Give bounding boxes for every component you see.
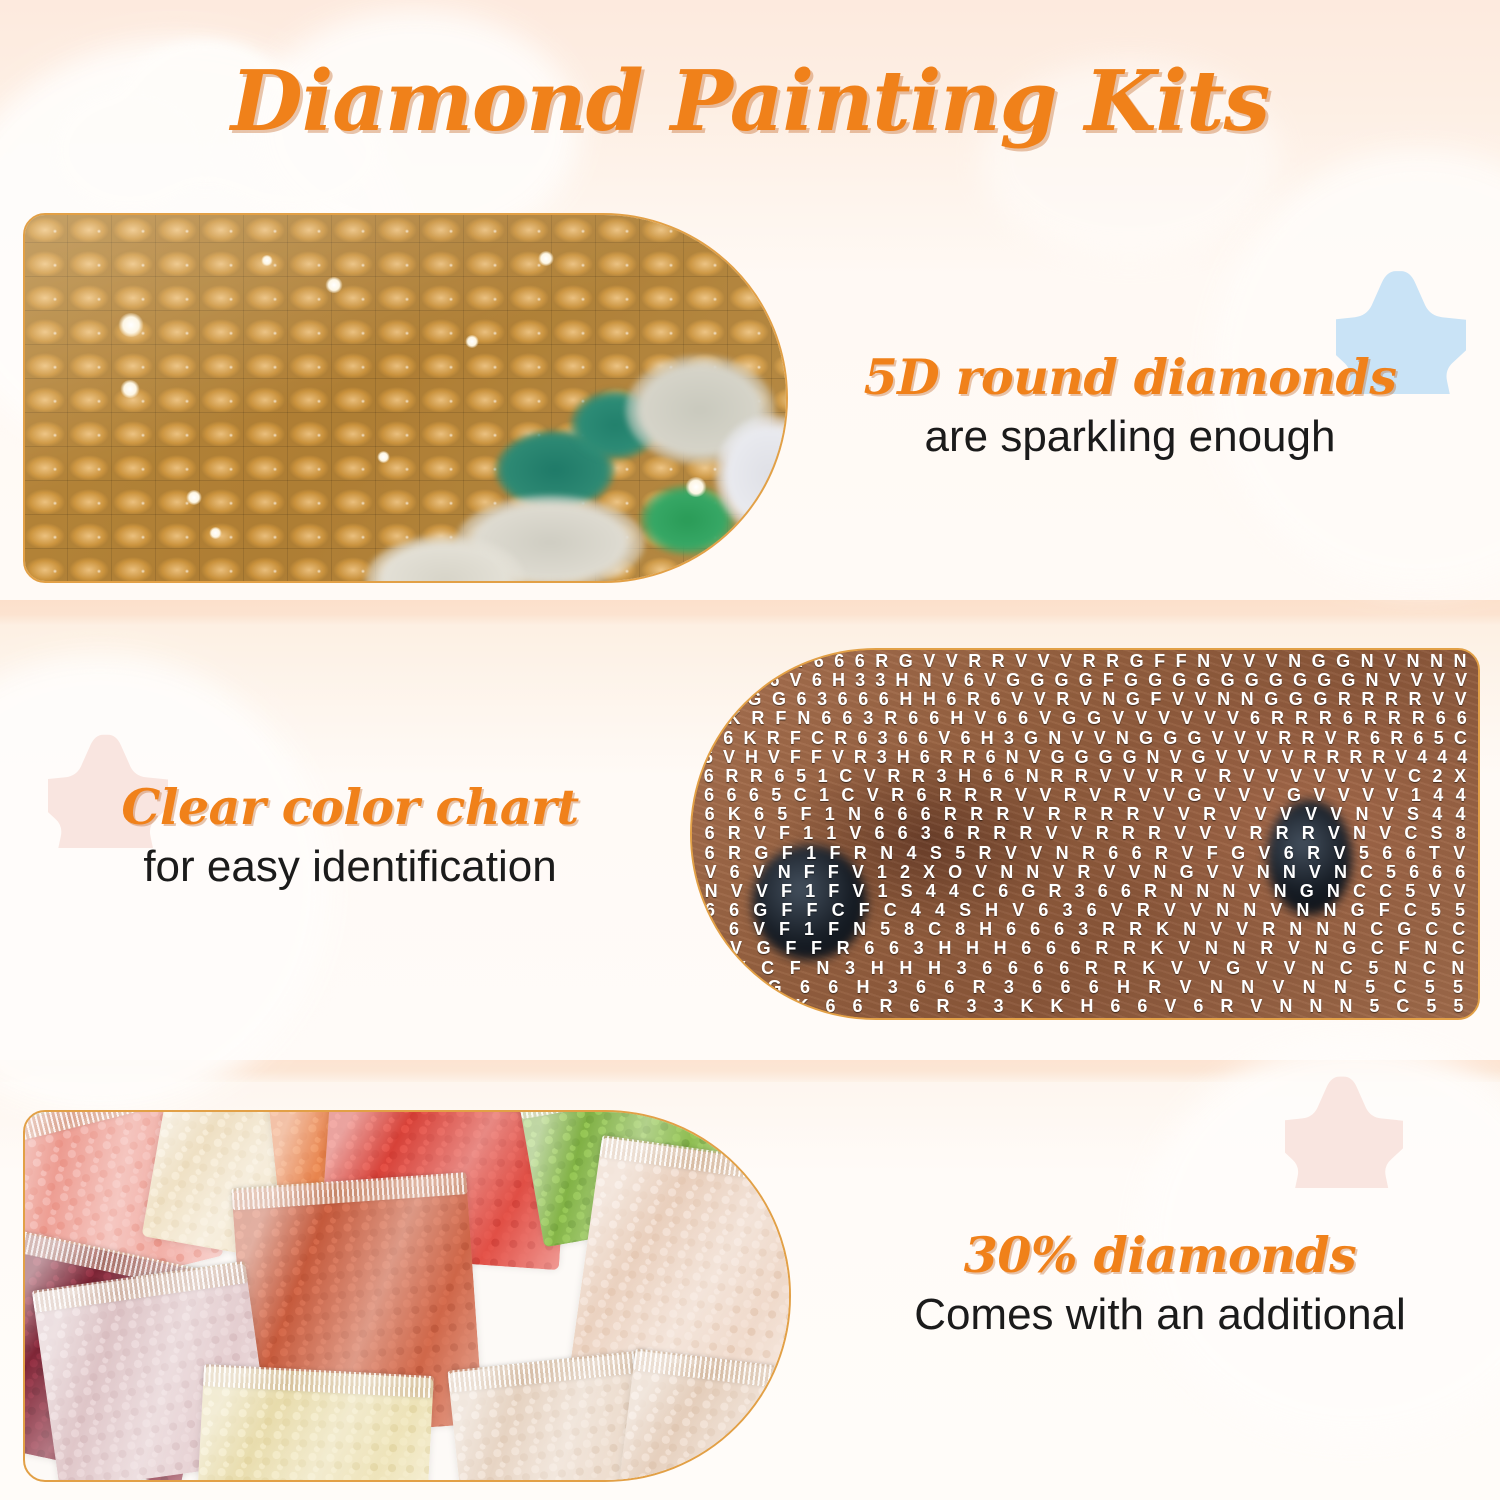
symbol-cell: F xyxy=(822,882,846,901)
symbol-cell: G xyxy=(759,978,791,997)
symbol-cell: C xyxy=(966,882,992,901)
symbol-cell: R xyxy=(744,767,769,786)
symbol-cell: R xyxy=(972,844,998,863)
symbol-cell: R xyxy=(1358,709,1382,728)
symbol-cell: 6 xyxy=(1451,709,1472,728)
symbol-cell: F xyxy=(794,805,818,824)
symbol-row: HKRFN663R66HV66VGGVVVVVV6RRR6RRR66 xyxy=(698,709,1472,728)
symbol-cell: 6 xyxy=(913,729,933,748)
symbol-cell: V xyxy=(1222,709,1245,728)
symbol-cell: V xyxy=(1046,863,1071,882)
symbol-cell: H xyxy=(931,939,959,958)
symbol-cell: F xyxy=(1372,901,1397,920)
symbol-cell: V xyxy=(1193,824,1218,843)
symbol-cell: V xyxy=(1010,652,1033,671)
symbol-cell: V xyxy=(1229,920,1255,939)
symbol-cell: R xyxy=(933,786,958,805)
symbol-cell: S xyxy=(923,844,948,863)
symbol-cell: 6 xyxy=(829,652,850,671)
symbol-cell: F xyxy=(785,748,806,767)
symbol-row: 6VHVFFVR3H6RR6NVGGGGNVGVVVVRRRRV444 xyxy=(698,748,1472,767)
symbol-cell: V xyxy=(1094,767,1118,786)
symbol-cell: 6 xyxy=(852,729,872,748)
symbol-cell: N xyxy=(1111,729,1134,748)
symbol-cell: 6 xyxy=(981,748,1001,767)
symbol-cell: N xyxy=(1331,997,1361,1016)
symbol-cell: V xyxy=(1422,882,1447,901)
symbol-cell: 8 xyxy=(948,920,972,939)
symbol-cell: N xyxy=(1444,959,1473,978)
symbol-cell: R xyxy=(879,709,903,728)
symbol-cell: V xyxy=(1034,709,1057,728)
sparkle-highlight xyxy=(209,527,222,539)
symbol-cell: V xyxy=(1097,863,1122,882)
symbol-cell: C xyxy=(825,901,852,920)
symbol-cell: F xyxy=(729,978,758,997)
symbol-cell: 6 xyxy=(837,709,858,728)
symbol-cell: 6 xyxy=(817,997,844,1016)
symbol-cell: V xyxy=(1066,729,1088,748)
sparkle-highlight xyxy=(261,255,273,266)
symbol-cell: V xyxy=(742,652,765,671)
symbol-cell: F xyxy=(774,882,798,901)
symbol-cell: V xyxy=(1170,978,1200,997)
symbol-cell: V xyxy=(1130,709,1153,728)
feature-image-round-diamonds xyxy=(23,213,788,583)
symbol-cell: 6 xyxy=(1000,959,1026,978)
symbol-cell: R xyxy=(1051,690,1075,709)
symbol-cell: V xyxy=(1211,748,1233,767)
symbol-cell: N xyxy=(1303,959,1332,978)
symbol-cell: 6 xyxy=(959,671,979,690)
symbol-cell: V xyxy=(1447,882,1472,901)
symbol-cell: N xyxy=(1236,901,1263,920)
symbol-cell: R xyxy=(1321,748,1344,767)
symbol-cell: V xyxy=(1122,863,1147,882)
bag-plastic-sheen xyxy=(196,1366,434,1482)
symbol-cell: F xyxy=(1149,652,1170,671)
symbol-cell: F xyxy=(1098,671,1119,690)
symbol-cell: R xyxy=(990,805,1016,824)
symbol-cell: R xyxy=(721,844,747,863)
symbol-cell: G xyxy=(1191,671,1215,690)
symbol-cell: G xyxy=(1121,690,1146,709)
symbol-row: 6RGF1FRN4S5RVVNR66RVFGV6RV566TV xyxy=(698,844,1472,863)
symbol-cell: 6 xyxy=(999,920,1023,939)
symbol-cell: V xyxy=(785,671,807,690)
symbol-cell: V xyxy=(758,997,787,1016)
symbol-cell: X xyxy=(917,863,942,882)
symbol-cell: R xyxy=(720,767,745,786)
symbol-cell: 3 xyxy=(995,978,1023,997)
symbol-cell: 3 xyxy=(985,997,1012,1016)
symbol-cell: V xyxy=(1254,748,1276,767)
symbol-cell: N xyxy=(1164,882,1190,901)
symbol-cell: R xyxy=(762,729,785,748)
symbol-cell: 3 xyxy=(873,729,893,748)
symbol-cell: 1 xyxy=(1405,786,1427,805)
star-icon-pink xyxy=(1285,1072,1403,1188)
symbol-cell: H xyxy=(972,920,999,939)
symbol-cell: 5 xyxy=(1424,901,1448,920)
symbol-cell: 6 xyxy=(1449,863,1472,882)
symbol-cell: R xyxy=(1197,805,1223,824)
symbol-cell: R xyxy=(1295,824,1321,843)
feature-text-extra-diamonds: 30% diamonds Comes with an additional xyxy=(880,1228,1440,1342)
symbol-cell: V xyxy=(1406,671,1428,690)
symbol-cell: 6 xyxy=(764,671,784,690)
symbol-cell: V xyxy=(724,882,749,901)
symbol-cell: 6 xyxy=(915,748,935,767)
section-divider-1 xyxy=(0,600,1500,626)
symbol-cell: C xyxy=(1449,729,1472,748)
bag-sand xyxy=(616,1350,791,1482)
symbol-cell: R xyxy=(1269,824,1295,843)
symbol-row: H6GG63666HH6R6VVRVNGFVVNNGGGRRRRVV xyxy=(698,690,1472,709)
symbol-cell: R xyxy=(1253,939,1281,958)
symbol-cell: 6 xyxy=(1125,844,1148,863)
feature-text-color-chart: Clear color chart for easy identificatio… xyxy=(60,780,640,894)
symbol-cell: R xyxy=(1071,863,1097,882)
symbol-cell: N xyxy=(1276,863,1302,882)
symbol-cell: V xyxy=(1117,767,1141,786)
symbol-cell: K xyxy=(1134,959,1163,978)
symbol-cell: 1 xyxy=(820,824,843,843)
symbol-cell: V xyxy=(1276,959,1304,978)
symbol-cell: R xyxy=(1106,959,1135,978)
symbol-cell: N xyxy=(698,882,724,901)
symbol-cell: R xyxy=(1088,939,1116,958)
symbol-cell: G xyxy=(1049,671,1073,690)
symbol-cell: 4 xyxy=(1412,748,1432,767)
symbol-cell: 6 xyxy=(1376,844,1399,863)
symbol-cell: N xyxy=(1267,882,1293,901)
symbol-cell: R xyxy=(935,748,958,767)
sparkle-highlight xyxy=(325,277,343,293)
symbol-cell: H xyxy=(978,901,1005,920)
symbol-cell: G xyxy=(1281,786,1307,805)
symbol-cell: G xyxy=(1094,748,1118,767)
symbol-cell: 6 xyxy=(720,786,742,805)
symbol-cell: G xyxy=(1074,671,1098,690)
symbol-cell: 8 xyxy=(1449,824,1472,843)
symbol-cell: V xyxy=(698,863,723,882)
symbol-cell: R xyxy=(870,652,893,671)
symbol-cell: V xyxy=(1380,786,1404,805)
feature-headline: 30% diamonds xyxy=(880,1228,1440,1283)
symbol-cell: V xyxy=(846,882,871,901)
feature-subline: are sparkling enough xyxy=(830,411,1430,464)
sparkle-highlight xyxy=(465,335,479,348)
symbol-cell: V xyxy=(747,824,772,843)
symbol-cell: F xyxy=(785,729,806,748)
symbol-cell: C xyxy=(1445,920,1472,939)
symbol-cell: V xyxy=(1428,671,1450,690)
symbol-cell: 6 xyxy=(1080,901,1104,920)
symbol-cell: R xyxy=(1139,978,1170,997)
symbol-cell: 3 xyxy=(837,959,863,978)
symbol-cell: V xyxy=(827,748,849,767)
symbol-cell: G xyxy=(1390,920,1418,939)
symbol-cell: V xyxy=(1200,863,1225,882)
symbol-cell: 6 xyxy=(1430,709,1451,728)
symbol-cell: V xyxy=(1171,805,1196,824)
symbol-cell: C xyxy=(753,959,782,978)
symbol-cell: 1 xyxy=(818,805,841,824)
symbol-cell: V xyxy=(1332,786,1356,805)
symbol-cell: V xyxy=(718,748,740,767)
feature-image-color-chart: N6V6H666RGVVRRVVVRRGFFNVVVNGGNVNNNoVN6V6… xyxy=(690,648,1480,1020)
symbol-cell: N xyxy=(698,652,721,671)
symbol-cell: V xyxy=(1229,729,1251,748)
symbol-cell: V xyxy=(1375,805,1400,824)
symbol-cell: G xyxy=(1335,939,1364,958)
symbol-cell: 1 xyxy=(799,882,822,901)
symbol-cell: V xyxy=(861,786,885,805)
symbol-cell: 6 xyxy=(698,729,718,748)
symbol-cell: V xyxy=(1252,844,1277,863)
symbol-cell: V xyxy=(1232,786,1256,805)
symbol-cell: 4 xyxy=(942,882,965,901)
symbol-cell: 6 xyxy=(791,690,812,709)
symbol-cell: H xyxy=(785,652,808,671)
symbol-cell: E xyxy=(698,997,727,1016)
symbol-cell: 3 xyxy=(850,671,870,690)
symbol-cell: C xyxy=(1415,959,1444,978)
symbol-cell: 6 xyxy=(844,997,871,1016)
symbol-cell: N xyxy=(1355,652,1378,671)
symbol-cell: V xyxy=(1189,767,1213,786)
symbol-cell: 6 xyxy=(807,671,827,690)
symbol-cell: V xyxy=(1379,652,1402,671)
symbol-cell: V xyxy=(1083,786,1107,805)
symbol-cell: 6 xyxy=(1047,920,1071,939)
symbol-cell: 6 xyxy=(992,709,1013,728)
symbol-cell: H xyxy=(986,939,1014,958)
symbol-cell: 5 xyxy=(1429,729,1449,748)
symbol-cell: R xyxy=(1403,690,1427,709)
symbol-cell: 6 xyxy=(1365,729,1385,748)
symbol-cell: V xyxy=(1298,805,1323,824)
symbol-cell: V xyxy=(1199,709,1222,728)
symbol-cell: G xyxy=(1070,748,1094,767)
symbol-cell: H xyxy=(1108,978,1139,997)
symbol-cell: 5 xyxy=(1361,997,1388,1016)
symbol-row: 6VGFFR663HHH666RRKVNNRVNGCFNC xyxy=(698,939,1472,958)
symbol-cell: H xyxy=(976,729,999,748)
symbol-cell: G xyxy=(1057,709,1082,728)
symbol-cell: V xyxy=(979,671,1001,690)
symbol-cell: V xyxy=(843,824,868,843)
symbol-cell: 4 xyxy=(904,901,928,920)
symbol-cell: 6 xyxy=(832,690,853,709)
symbol-cell: V xyxy=(1104,901,1130,920)
symbol-cell: R xyxy=(1077,959,1106,978)
symbol-cell: 3 xyxy=(906,939,931,958)
symbol-cell: G xyxy=(1173,863,1200,882)
symbol-cell: 3 xyxy=(870,671,890,690)
symbol-cell: F xyxy=(1391,939,1417,958)
symbol-cell: G xyxy=(1182,729,1206,748)
symbol-cell: V xyxy=(1207,729,1229,748)
symbol-cell: 5 xyxy=(1448,901,1472,920)
symbol-cell: G xyxy=(742,690,767,709)
symbol-cell: V xyxy=(1324,805,1349,824)
symbol-cell: V xyxy=(1355,767,1379,786)
symbol-cell: 4 xyxy=(900,844,923,863)
symbol-cell: O xyxy=(942,863,969,882)
symbol-cell: N xyxy=(873,844,899,863)
symbol-cell: F xyxy=(821,863,845,882)
symbol-cell: R xyxy=(1385,729,1408,748)
symbol-cell: R xyxy=(1148,844,1174,863)
symbol-cell: V xyxy=(1024,748,1046,767)
symbol-cell: N xyxy=(914,671,937,690)
symbol-cell: V xyxy=(1191,959,1219,978)
symbol-cell: H xyxy=(894,690,918,709)
symbol-cell: V xyxy=(1248,805,1273,824)
symbol-cell: G xyxy=(1119,671,1143,690)
feature-headline: 5D round diamonds xyxy=(830,350,1430,405)
symbol-cell: 3 xyxy=(1068,882,1091,901)
symbol-cell: F xyxy=(823,844,847,863)
symbol-cell: R xyxy=(963,978,994,997)
symbol-cell: V xyxy=(1064,824,1089,843)
symbol-cell: V xyxy=(1055,652,1078,671)
symbol-cell: K xyxy=(721,805,747,824)
symbol-cell: R xyxy=(1212,997,1242,1016)
symbol-cell: 6 xyxy=(974,959,1000,978)
symbol-cell: 1 xyxy=(812,767,834,786)
symbol-cell: N xyxy=(1020,863,1046,882)
symbol-cell: 5 xyxy=(790,767,812,786)
symbol-cell: 3 xyxy=(914,824,937,843)
symbol-cell: S xyxy=(1424,824,1449,843)
symbol-cell: R xyxy=(1094,805,1120,824)
symbol-cell: R xyxy=(1344,748,1367,767)
symbol-cell: 6 xyxy=(722,690,743,709)
symbol-cell: 3 xyxy=(949,959,975,978)
symbol-cell: V xyxy=(1157,901,1183,920)
feature-image-extra-diamonds xyxy=(23,1110,791,1482)
symbol-cell: 4 xyxy=(1450,786,1472,805)
symbol-cell: V xyxy=(998,844,1023,863)
symbol-cell: V xyxy=(1189,690,1212,709)
symbol-cell: N xyxy=(1283,652,1306,671)
symbol-cell: 6 xyxy=(1185,997,1212,1016)
symbol-cell: 4 xyxy=(928,901,952,920)
sparkle-highlight xyxy=(377,451,390,463)
symbol-cell: C xyxy=(1332,959,1361,978)
symbol-cell: N xyxy=(1320,882,1346,901)
symbol-cell: 5 xyxy=(949,844,972,863)
infographic-poster: Diamond Painting Kits 5D xyxy=(0,0,1500,1500)
symbol-cell: K xyxy=(787,997,817,1016)
symbol-cell: V xyxy=(1449,690,1472,709)
symbol-cell: V xyxy=(1307,786,1331,805)
symbol-cell: F xyxy=(774,901,799,920)
symbol-cell: V xyxy=(1331,767,1355,786)
symbol-cell: V xyxy=(1427,690,1450,709)
symbol-cell: N xyxy=(1289,901,1316,920)
symbol-cell: G xyxy=(1216,671,1240,690)
symbol-cell: 5 xyxy=(1445,997,1472,1016)
symbol-cell: N xyxy=(1417,939,1445,958)
symbol-cell: K xyxy=(1012,997,1042,1016)
symbol-cell: R xyxy=(928,997,958,1016)
symbol-cell: 3 xyxy=(879,978,907,997)
symbol-cell: N xyxy=(1271,997,1301,1016)
symbol-cell: V xyxy=(1156,997,1185,1016)
symbol-cell: R xyxy=(906,767,931,786)
symbol-cell: R xyxy=(1356,690,1380,709)
symbol-cell: 5 xyxy=(1444,978,1472,997)
symbol-cell: R xyxy=(1137,882,1163,901)
symbol-cell: H xyxy=(740,748,763,767)
symbol-cell: C xyxy=(1346,882,1372,901)
symbol-cell: R xyxy=(1266,709,1290,728)
symbol-cell: V xyxy=(1321,824,1346,843)
symbol-cell: V xyxy=(746,863,771,882)
symbol-cell: 6 xyxy=(698,824,721,843)
symbol-cell: F xyxy=(782,959,809,978)
symbol-cell: N xyxy=(1209,901,1236,920)
symbol-cell: R xyxy=(961,824,987,843)
symbol-cell: R xyxy=(1013,824,1039,843)
symbol-cell: C xyxy=(833,767,858,786)
symbol-cell: G xyxy=(767,690,792,709)
symbol-cell: G xyxy=(1218,959,1248,978)
symbol-cell: R xyxy=(1367,748,1390,767)
symbol-cell: 6 xyxy=(721,652,742,671)
symbol-cell: V xyxy=(1384,671,1406,690)
symbol-cell: R xyxy=(1067,805,1093,824)
symbol-cell: N xyxy=(1360,671,1383,690)
symbol-cell: V xyxy=(1302,863,1327,882)
feature-subline: Comes with an additional xyxy=(880,1289,1440,1342)
symbol-cell: V xyxy=(1248,959,1276,978)
symbol-cell: V xyxy=(1242,997,1271,1016)
symbol-cell: G xyxy=(893,652,918,671)
symbol-cell: 1 xyxy=(870,863,893,882)
symbol-cell: N xyxy=(792,709,816,728)
symbol-cell: N xyxy=(1198,939,1226,958)
symbol-cell: R xyxy=(1406,709,1430,728)
symbol-cell: 6 xyxy=(764,652,785,671)
symbol-cell: V xyxy=(1009,786,1033,805)
symbol-cell: 5 xyxy=(765,786,787,805)
symbol-row: VVCFN3HHH36666RRKVVGVVNC5NCN xyxy=(698,959,1472,978)
symbol-cell: N xyxy=(809,959,838,978)
symbol-cell: N xyxy=(1316,901,1343,920)
symbol-cell: V xyxy=(749,882,774,901)
symbol-cell: V xyxy=(1237,767,1261,786)
symbol-cell: 6 xyxy=(698,901,722,920)
symbol-cell: V xyxy=(1215,652,1238,671)
symbol-cell: V xyxy=(1373,824,1398,843)
symbol-cell: V xyxy=(746,920,772,939)
symbol-cell: F xyxy=(1170,652,1191,671)
symbol-cell: V xyxy=(1171,939,1198,958)
feature-subline: for easy identification xyxy=(60,841,640,894)
symbol-cell: N xyxy=(1309,920,1336,939)
symbol-cell: V xyxy=(1261,767,1285,786)
symbol-cell: R xyxy=(1101,652,1124,671)
symbol-cell: F xyxy=(797,863,821,882)
symbol-cell: F xyxy=(1200,844,1224,863)
symbol-cell: 6 xyxy=(868,824,891,843)
symbol-cell: N xyxy=(1216,882,1242,901)
